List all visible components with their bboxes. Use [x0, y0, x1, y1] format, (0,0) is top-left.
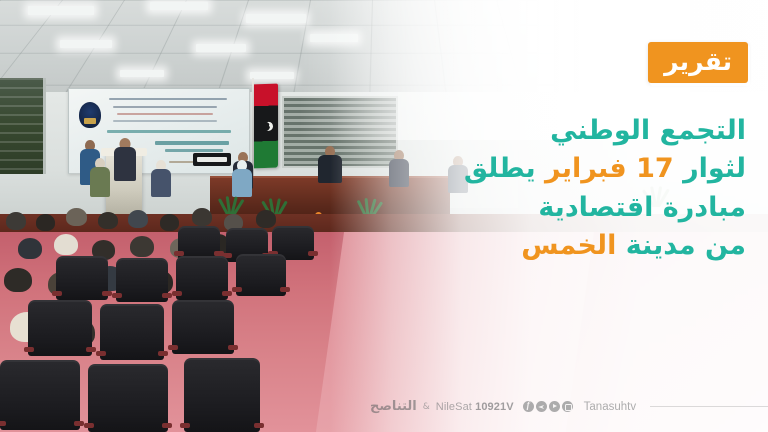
auditorium-chair	[0, 360, 80, 430]
panel-member	[232, 160, 252, 190]
person-body	[151, 169, 171, 197]
social-icons-group[interactable]	[523, 401, 573, 412]
headline-segment: من مدينة	[616, 230, 746, 261]
person-body	[114, 147, 136, 181]
ceiling-light	[28, 6, 94, 15]
banner-text-line	[113, 106, 217, 108]
auditorium-chair	[184, 358, 260, 432]
banner-text-line	[113, 120, 217, 122]
headline-segment: الخمس	[521, 230, 616, 261]
speaker-at-podium	[112, 138, 138, 182]
auditorium-chair	[178, 226, 220, 260]
side-window	[0, 78, 46, 174]
audience-head	[98, 212, 118, 229]
banner-sponsor-badge	[193, 153, 231, 166]
audience-head	[4, 268, 32, 292]
auditorium-chair	[28, 300, 92, 356]
audience-head	[130, 236, 154, 257]
banner-text-line	[165, 149, 223, 152]
organization-logo-icon	[79, 102, 101, 128]
ceiling-light	[250, 72, 294, 79]
instagram-icon[interactable]	[562, 401, 573, 412]
auditorium-chair	[172, 300, 234, 354]
satellite-frequency: 10921V	[475, 401, 514, 413]
ceiling-light	[246, 14, 306, 23]
ceiling-light	[120, 70, 164, 77]
audience-head	[128, 210, 148, 228]
libya-flag-icon	[254, 84, 278, 169]
satellite-info: NileSat 10921V	[436, 401, 514, 413]
headline-segment: لثوار	[674, 153, 746, 184]
auditorium-chair	[100, 304, 164, 360]
auditorium-chair	[116, 258, 168, 302]
broadcast-frame: تقرير التجمع الوطني لثوار 17 فبراير يطلق…	[0, 0, 768, 432]
report-badge-label: تقرير	[664, 49, 732, 74]
headline-block: التجمع الوطني لثوار 17 فبراير يطلق مبادر…	[326, 112, 746, 265]
ampersand-separator: &	[423, 402, 430, 412]
star-icon	[269, 124, 272, 127]
audience-head	[192, 208, 212, 226]
banner-text-line	[107, 130, 231, 133]
facebook-icon[interactable]	[523, 401, 534, 412]
audience-head	[6, 212, 26, 230]
person-body	[232, 169, 252, 197]
banner-text-line	[117, 113, 213, 115]
attendee-standing	[152, 160, 170, 198]
channel-logo-text: التناصح	[370, 399, 417, 414]
footer-divider-rule	[650, 406, 768, 407]
audience-head	[18, 238, 42, 259]
report-badge: تقرير	[648, 42, 748, 83]
ceiling-light	[60, 40, 112, 48]
ceiling-light	[310, 34, 358, 42]
ceiling-light	[196, 44, 246, 52]
auditorium-chair	[236, 254, 286, 296]
ceiling-light	[150, 2, 208, 10]
auditorium-chair	[176, 256, 228, 300]
channel-footer-bar: التناصح & NileSat 10921V Tanasuhtv	[0, 399, 768, 414]
auditorium-chair	[56, 256, 108, 300]
audience-head	[160, 214, 179, 231]
headline-segment: 17 فبراير	[545, 153, 674, 184]
headline-segment: يطلق	[464, 153, 545, 184]
headline-segment: التجمع الوطني	[550, 115, 746, 146]
headline-segment: مبادرة اقتصادية	[538, 192, 746, 223]
auditorium-chair	[88, 364, 168, 432]
headline-line-1: التجمع الوطني	[326, 112, 746, 150]
channel-handle[interactable]: Tanasuhtv	[584, 401, 636, 413]
satellite-name: NileSat	[436, 401, 472, 413]
telegram-icon[interactable]	[536, 401, 547, 412]
banner-text-line	[109, 98, 227, 100]
banner-text-line	[155, 141, 229, 145]
attendee-standing	[90, 158, 110, 198]
headline-line-2: لثوار 17 فبراير يطلق	[326, 150, 746, 188]
audience-head	[66, 208, 87, 226]
youtube-icon[interactable]	[549, 401, 560, 412]
audience-head	[54, 234, 78, 255]
headline-line-3: مبادرة اقتصادية	[326, 189, 746, 227]
person-body	[90, 167, 110, 197]
audience-head	[36, 214, 55, 231]
headline-line-4: من مدينة الخمس	[326, 227, 746, 265]
audience-head	[256, 210, 276, 228]
